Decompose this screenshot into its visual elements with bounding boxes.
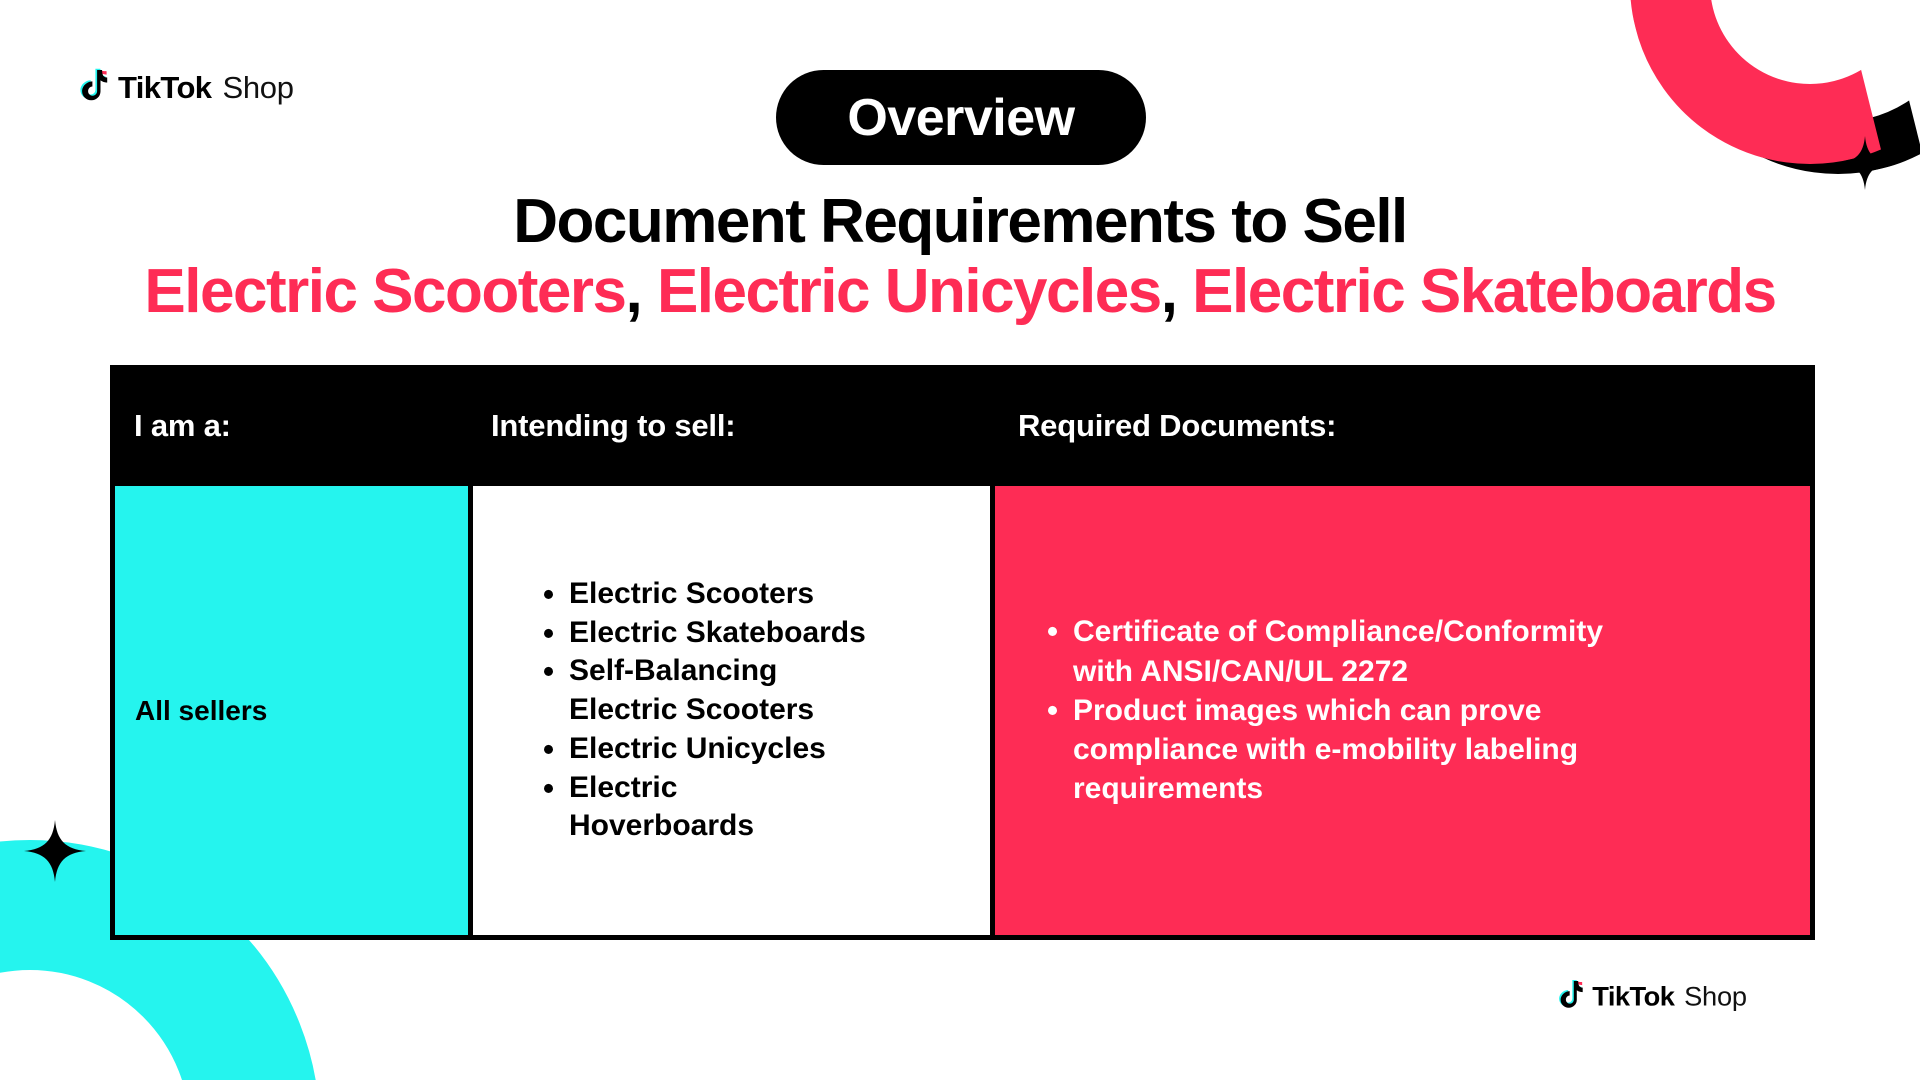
required-documents-list: Certificate of Compliance/Conformity wit… bbox=[1043, 612, 1628, 808]
shop-wordmark: Shop bbox=[1684, 982, 1747, 1009]
subtitle-separator-2: , bbox=[1161, 257, 1192, 326]
table-row: All sellers Electric Scooters Electric S… bbox=[110, 486, 1815, 940]
list-item: Electric Unicycles bbox=[539, 730, 869, 769]
list-item: Certificate of Compliance/Conformity wit… bbox=[1043, 612, 1628, 691]
shop-wordmark: Shop bbox=[222, 72, 293, 103]
tiktok-note-icon bbox=[78, 68, 112, 106]
subtitle-part-3: Electric Skateboards bbox=[1192, 257, 1775, 326]
overview-badge: Overview bbox=[776, 70, 1146, 165]
subtitle-part-1: Electric Scooters bbox=[144, 257, 625, 326]
sparkle-star-icon bbox=[24, 820, 86, 882]
column-header-required-documents: Required Documents: bbox=[993, 365, 1815, 486]
list-item: Product images which can prove complianc… bbox=[1043, 691, 1628, 809]
overview-badge-label: Overview bbox=[847, 88, 1074, 148]
tiktok-wordmark: TikTok bbox=[1592, 982, 1674, 1009]
subtitle-part-2: Electric Unicycles bbox=[657, 257, 1161, 326]
cell-required-documents: Certificate of Compliance/Conformity wit… bbox=[995, 486, 1810, 935]
tiktok-note-icon bbox=[1557, 979, 1587, 1012]
table-header-row: I am a: Intending to sell: Required Docu… bbox=[110, 365, 1815, 486]
tiktok-wordmark: TikTok bbox=[118, 72, 211, 103]
sparkle-star-icon bbox=[1838, 136, 1892, 190]
list-item: Electric Scooters bbox=[539, 575, 869, 614]
list-item: Self-Balancing Electric Scooters bbox=[539, 652, 869, 729]
column-header-i-am-a: I am a: bbox=[110, 365, 468, 486]
subtitle-separator-1: , bbox=[626, 257, 657, 326]
list-item: Electric Skateboards bbox=[539, 614, 869, 653]
page-title: Document Requirements to Sell bbox=[0, 186, 1920, 257]
slide-canvas: TikTok Shop Overview Document Requiremen… bbox=[0, 0, 1920, 1080]
column-header-intending-to-sell: Intending to sell: bbox=[468, 365, 993, 486]
page-subtitle: Electric Scooters, Electric Unicycles, E… bbox=[0, 256, 1920, 327]
tiktok-shop-logo-footer: TikTok Shop bbox=[1557, 979, 1747, 1012]
tiktok-shop-logo: TikTok Shop bbox=[78, 68, 294, 106]
cell-seller-type: All sellers bbox=[115, 486, 468, 935]
cell-intending-to-sell: Electric Scooters Electric Skateboards S… bbox=[473, 486, 990, 935]
list-item: Electric Hoverboards bbox=[539, 769, 869, 846]
intending-to-sell-list: Electric Scooters Electric Skateboards S… bbox=[539, 575, 869, 846]
requirements-table: I am a: Intending to sell: Required Docu… bbox=[110, 365, 1815, 940]
